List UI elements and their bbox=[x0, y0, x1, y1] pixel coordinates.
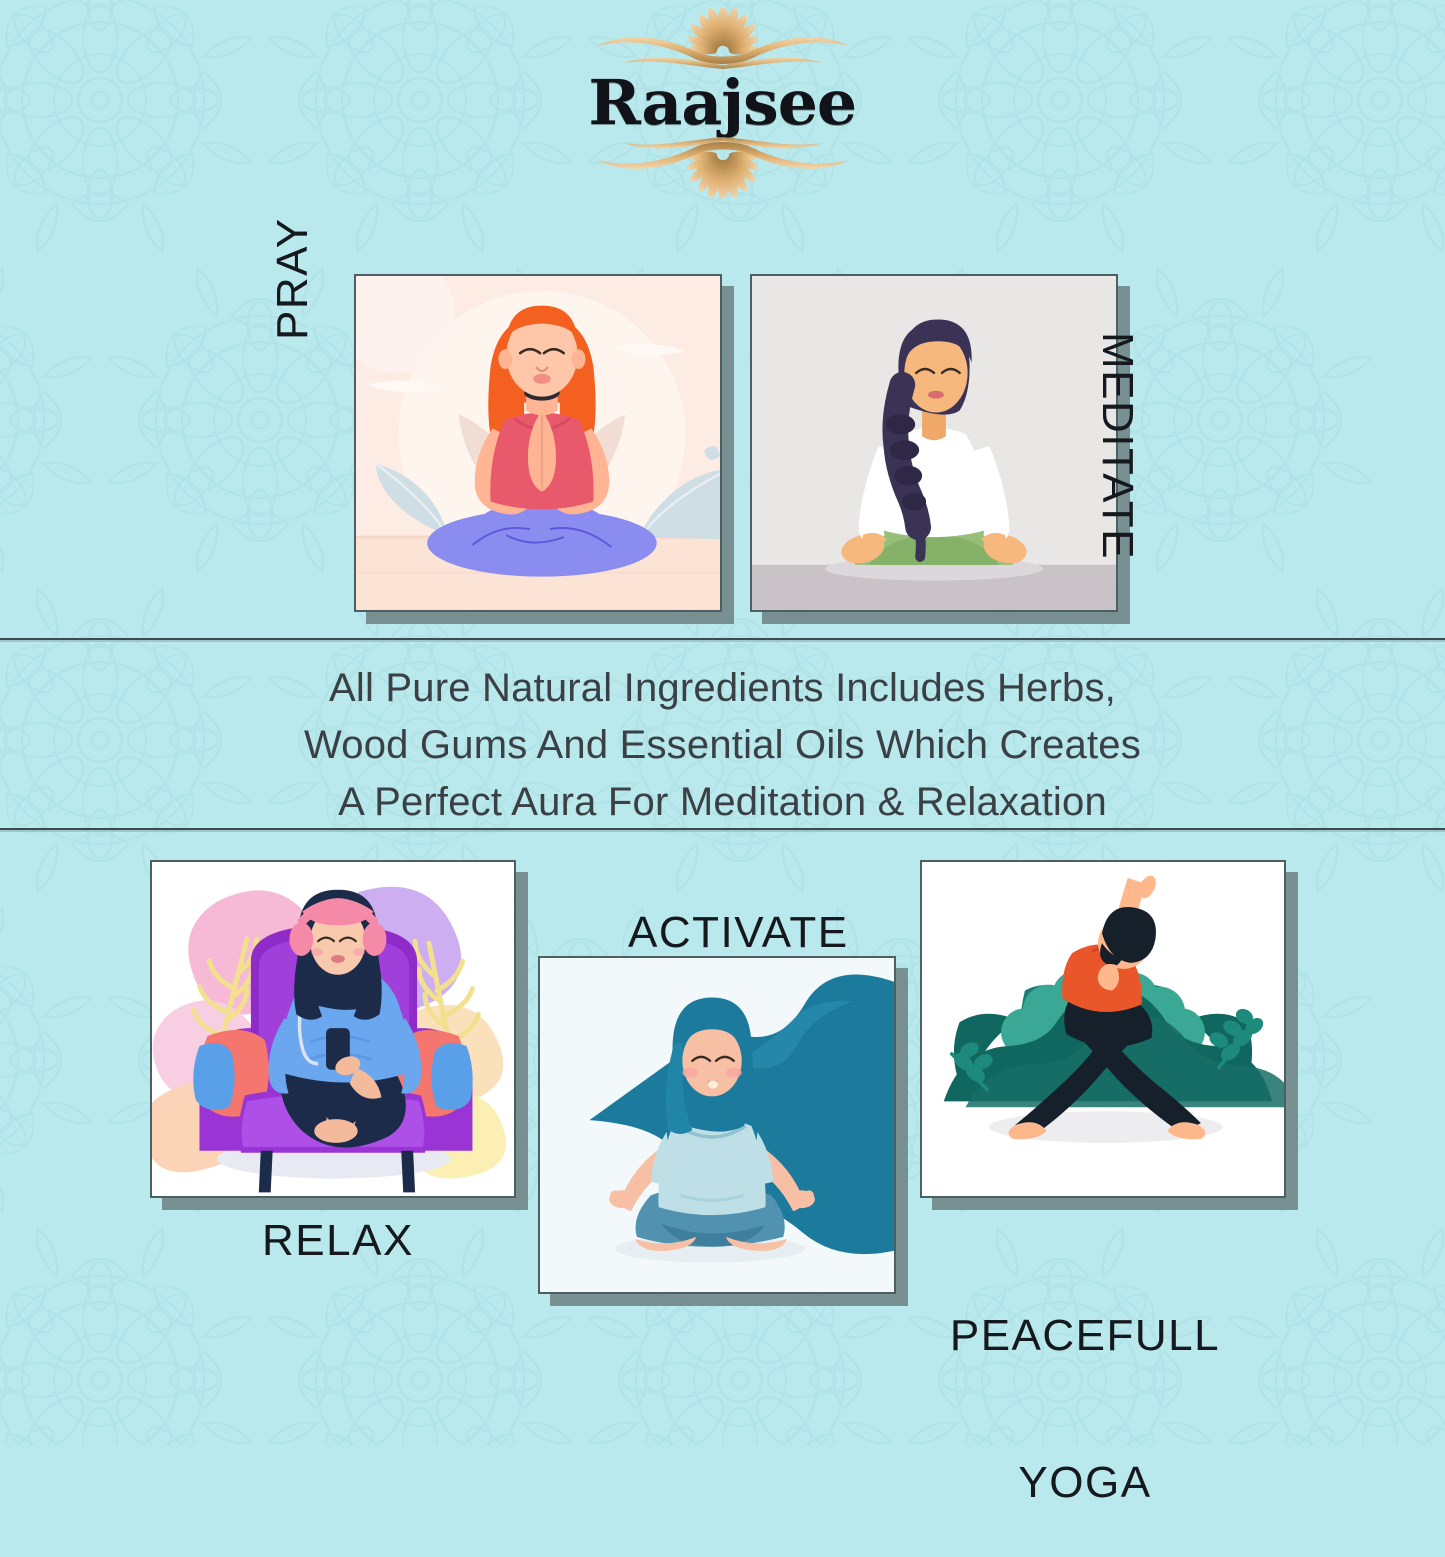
illustration-activate bbox=[540, 958, 894, 1292]
label-pray: PRAY bbox=[268, 217, 317, 340]
illustration-meditate bbox=[752, 276, 1116, 610]
illustration-peacefull-yoga bbox=[922, 862, 1284, 1196]
photo-pray bbox=[354, 274, 722, 612]
top-flourish-icon bbox=[593, 8, 853, 70]
label-peacefull-yoga: PEACEFULL YOGA bbox=[930, 1212, 1240, 1557]
photo-activate bbox=[538, 956, 896, 1294]
tagline-line-3: A Perfect Aura For Meditation & Relaxati… bbox=[120, 774, 1325, 831]
tagline: All Pure Natural Ingredients Includes He… bbox=[0, 660, 1445, 830]
label-peacefull-line-1: PEACEFULL bbox=[930, 1311, 1240, 1360]
divider-top bbox=[0, 638, 1445, 642]
illustration-pray bbox=[356, 276, 720, 610]
label-meditate: MEDITATE bbox=[1093, 332, 1142, 560]
brand-name: Raajsee bbox=[589, 72, 857, 134]
tagline-line-1: All Pure Natural Ingredients Includes He… bbox=[120, 660, 1325, 717]
label-peacefull-line-2: YOGA bbox=[930, 1458, 1240, 1507]
brand-logo: Raajsee bbox=[0, 8, 1445, 198]
illustration-relax bbox=[152, 862, 514, 1196]
bottom-flourish-icon bbox=[593, 136, 853, 198]
photo-meditate bbox=[750, 274, 1118, 612]
tagline-line-2: Wood Gums And Essential Oils Which Creat… bbox=[120, 717, 1325, 774]
label-activate: ACTIVATE bbox=[628, 908, 849, 957]
label-relax: RELAX bbox=[262, 1216, 414, 1265]
photo-relax bbox=[150, 860, 516, 1198]
photo-peacefull-yoga bbox=[920, 860, 1286, 1198]
